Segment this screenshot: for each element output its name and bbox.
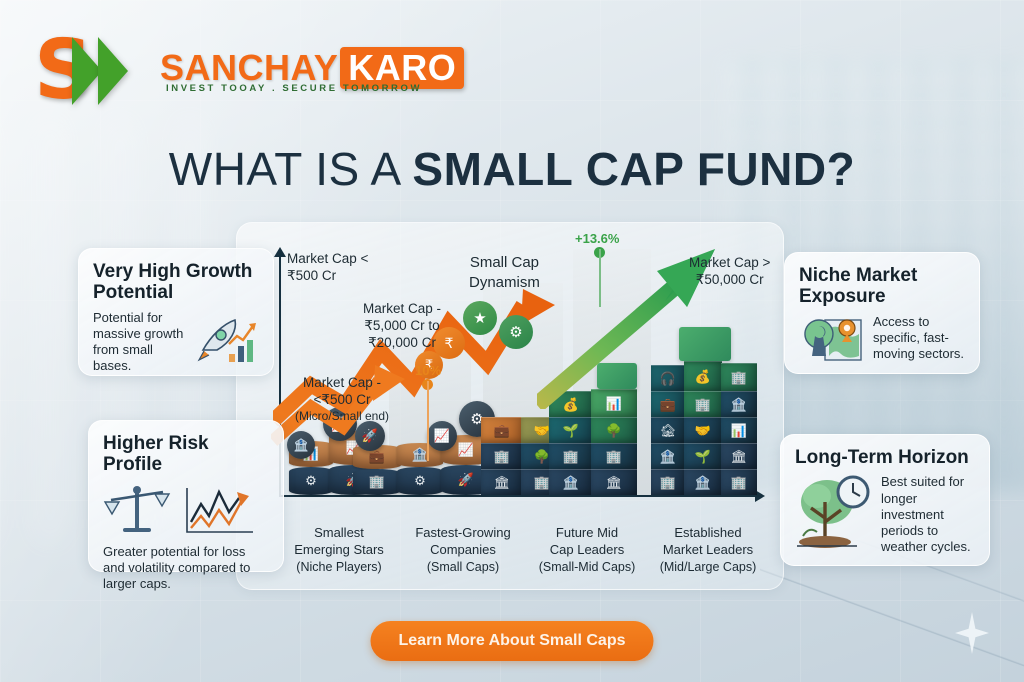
annotation-market-cap-1: Market Cap < ₹500 Cr xyxy=(287,251,368,285)
chart-center-label: Small Cap Dynamism xyxy=(469,253,540,292)
card-title: Very High Growth Potential xyxy=(93,261,259,304)
x-axis-label-1: Smallest Emerging Stars (Niche Players) xyxy=(279,525,399,575)
brand-wordmark: SANCHAY KARO INVEST TOOAY . SECURE TOMOR… xyxy=(160,47,464,94)
rocket-growth-chart-icon xyxy=(197,310,259,364)
page-title-emphasis: SMALL CAP FUND? xyxy=(412,143,855,195)
annotation-market-cap-2: Market Cap - ₹5,000 Cr to ₹20,000 Cr xyxy=(363,301,441,352)
card-body-text: Potential for massive growth from small … xyxy=(93,310,189,375)
chart-panel: 📊 ⚙ 📈 🚀 📈 🏦 💼 🏢 🚀 🏦 ⚙ 📈 xyxy=(236,222,784,590)
infographic-canvas: S SANCHAY KARO INVEST TOOAY . SECURE TOM… xyxy=(0,0,1024,682)
x-axis-label-4: Established Market Leaders (Mid/Large Ca… xyxy=(643,525,773,575)
star-badge-icon: ★ xyxy=(463,301,497,335)
card-higher-risk[interactable]: Higher Risk Profile Greater potential fo… xyxy=(88,420,284,572)
scales-balance-icon xyxy=(103,482,173,538)
card-title: Higher Risk Profile xyxy=(103,433,269,476)
card-title: Long-Term Horizon xyxy=(795,447,975,468)
learn-more-button[interactable]: Learn More About Small Caps xyxy=(371,621,654,661)
badge-growth-percent: +13.6% xyxy=(575,231,619,246)
brand-logo[interactable]: S SANCHAY KARO INVEST TOOAY . SECURE TOM… xyxy=(28,28,464,112)
brand-tagline: INVEST TOOAY . SECURE TOMORROW xyxy=(166,83,464,94)
gear-icon: ⚙ xyxy=(499,315,533,349)
page-title-lead: WHAT IS A xyxy=(169,143,413,195)
card-title: Niche Market Exposure xyxy=(799,265,965,308)
annotation-market-cap-4: Market Cap > ₹50,000 Cr xyxy=(689,255,770,289)
card-body-text: Greater potential for loss and volatilit… xyxy=(103,544,269,593)
card-long-term[interactable]: Long-Term Horizon Best suited for longer… xyxy=(780,434,990,566)
card-very-high-growth[interactable]: Very High Growth Potential Potential for… xyxy=(78,248,274,376)
tree-clock-icon xyxy=(795,474,873,556)
icon-burst-cluster: ₹ ★ ⚙ ₹ xyxy=(433,299,553,379)
volatility-chart-icon xyxy=(183,482,257,538)
sk-monogram-icon: S xyxy=(28,29,148,111)
x-axis-label-2: Fastest-Growing Companies (Small Caps) xyxy=(399,525,527,575)
page-title: WHAT IS A SMALL CAP FUND? xyxy=(0,142,1024,196)
badge-allocation-percent: 10% xyxy=(415,363,441,378)
card-body-text: Best suited for longer investment period… xyxy=(881,474,975,555)
bar-col: 💼 🏢 xyxy=(353,445,401,495)
chart-x-axis xyxy=(279,495,757,497)
card-body-text: Access to specific, fast-moving sectors. xyxy=(873,314,965,363)
keyhole-map-pin-icon xyxy=(799,314,865,372)
annotation-market-cap-3: Market Cap - <₹500 Cr (Micro/Small end) xyxy=(295,375,389,424)
x-axis-label-3: Future Mid Cap Leaders (Small-Mid Caps) xyxy=(525,525,649,575)
card-niche-market[interactable]: Niche Market Exposure Access to specific… xyxy=(784,252,980,374)
